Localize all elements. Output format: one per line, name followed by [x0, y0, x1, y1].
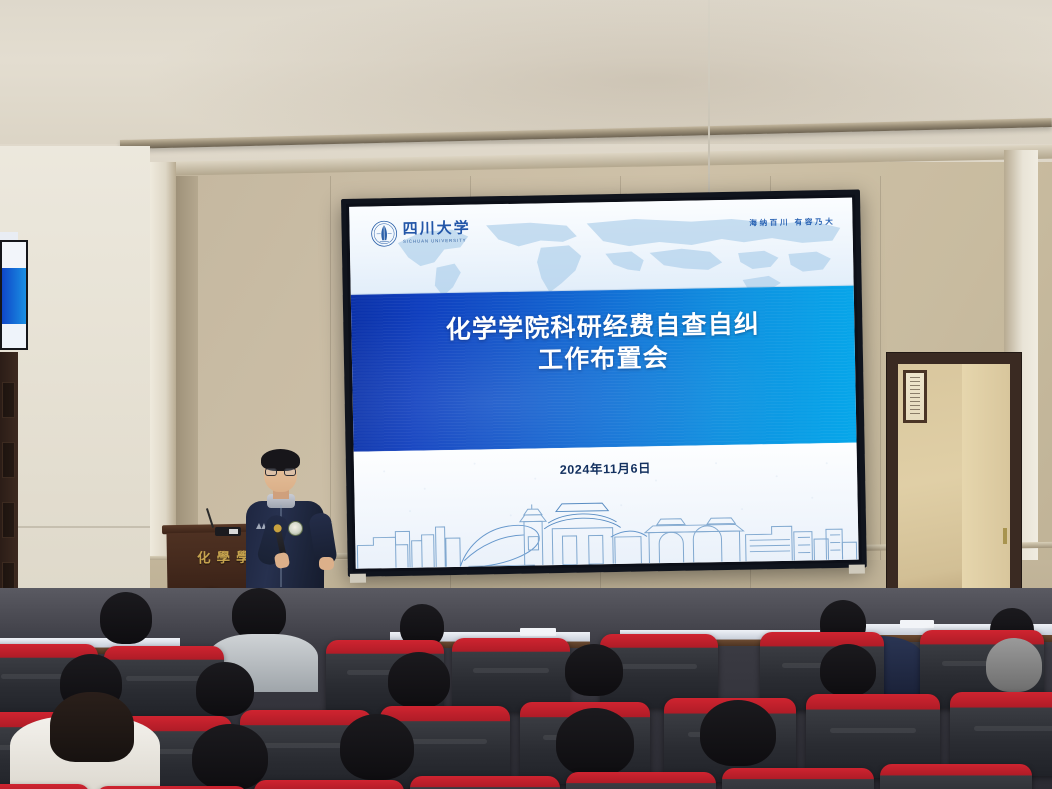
audience-head [556, 708, 634, 776]
slide-title-line1: 化学学院科研经费自查自纠 [351, 308, 855, 349]
audience-head [565, 644, 623, 696]
screen-mount [849, 564, 865, 573]
audience-head [388, 652, 450, 708]
calligraphy-scroll [903, 370, 927, 423]
left-wall-seam [0, 526, 150, 528]
led-presentation-screen[interactable]: 四川大学 SICHUAN UNIVERSITY 海纳百川 有容乃大 化学学院科研… [341, 189, 867, 576]
audience-head [986, 638, 1042, 692]
slide-title-band: 化学学院科研经费自查自纠 工作布置会 [351, 286, 857, 453]
auditorium-seat[interactable] [722, 768, 874, 789]
slide-title: 化学学院科研经费自查自纠 工作布置会 [351, 308, 855, 381]
university-name-en: SICHUAN UNIVERSITY [403, 239, 471, 245]
left-door-panel [2, 442, 15, 478]
slide-header: 四川大学 SICHUAN UNIVERSITY 海纳百川 有容乃大 [349, 198, 854, 295]
auditorium-seat[interactable] [452, 638, 570, 712]
jacket-badge [288, 521, 303, 536]
presenter-right-hand [319, 557, 334, 570]
auditorium-seat[interactable] [410, 776, 560, 789]
university-emblem-icon [371, 220, 398, 247]
eyeglasses-icon [265, 468, 296, 476]
university-motto: 海纳百川 有容乃大 [749, 216, 835, 229]
city-skyline-graphic [354, 478, 858, 569]
audience-head [820, 644, 876, 696]
lectern-control-box[interactable] [215, 527, 241, 536]
audience-head [192, 724, 268, 789]
side-monitor-footer [2, 324, 26, 348]
handout-paper [900, 620, 934, 628]
slide-footer: 2024年11月6日 [354, 443, 859, 569]
auditorium-seat[interactable] [0, 784, 90, 789]
door-handle[interactable] [1003, 528, 1007, 544]
auditorium-seat[interactable] [254, 780, 404, 789]
audience-head [50, 692, 134, 762]
audience-head [100, 592, 152, 644]
audience-head [232, 588, 286, 640]
side-monitor-blue-band [2, 268, 26, 324]
left-wall [0, 146, 150, 646]
audience-head [700, 700, 776, 766]
slide-title-line2: 工作布置会 [352, 340, 856, 381]
side-monitor [0, 240, 28, 350]
handout-paper [520, 628, 556, 636]
university-logo: 四川大学 SICHUAN UNIVERSITY [371, 219, 471, 248]
audience-head [340, 714, 414, 780]
university-name-cn: 四川大学 [403, 221, 471, 237]
auditorium-seat[interactable] [880, 764, 1032, 789]
doorway-inner-wall [962, 364, 1010, 614]
audience-area [0, 588, 1052, 789]
left-door-panel [2, 502, 15, 538]
left-door-panel [2, 382, 15, 418]
lecture-hall-photo: 四川大学 SICHUAN UNIVERSITY 海纳百川 有容乃大 化学学院科研… [0, 0, 1052, 789]
slide-canvas: 四川大学 SICHUAN UNIVERSITY 海纳百川 有容乃大 化学学院科研… [349, 198, 859, 569]
auditorium-seat[interactable] [566, 772, 716, 789]
screen-mount [350, 574, 366, 583]
audience-head [196, 662, 254, 716]
side-monitor-header [2, 242, 26, 268]
